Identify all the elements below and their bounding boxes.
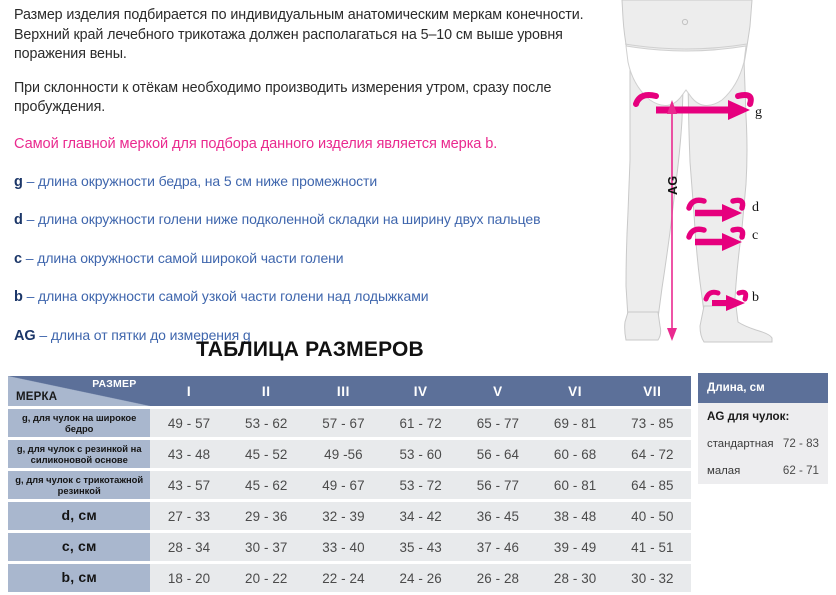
corner-measure-label: МЕРКА xyxy=(16,391,57,403)
measurement-definitions: g – длина окружности бедра, на 5 см ниже… xyxy=(14,173,610,345)
row-label: b, см xyxy=(8,564,150,592)
definition-d: d – длина окружности голени ниже подколе… xyxy=(14,211,610,229)
cell: 28 - 30 xyxy=(537,564,614,592)
cell: 53 - 62 xyxy=(228,409,305,437)
illustration-label-ag: AG xyxy=(666,175,680,195)
row-label: c, см xyxy=(8,533,150,561)
table-corner-cell: РАЗМЕР МЕРКА xyxy=(8,376,150,406)
cell: 61 - 72 xyxy=(382,409,459,437)
column-header-4: IV xyxy=(382,376,459,406)
cell: 49 -56 xyxy=(305,440,382,468)
size-chart-page: Размер изделия подбирается по индивидуал… xyxy=(0,0,836,571)
cell: 35 - 43 xyxy=(382,533,459,561)
cell: 43 - 48 xyxy=(150,440,227,468)
cell: 60 - 81 xyxy=(537,471,614,499)
cell: 37 - 46 xyxy=(459,533,536,561)
cell: 41 - 51 xyxy=(614,533,691,561)
cell: 20 - 22 xyxy=(228,564,305,592)
row-label: d, см xyxy=(8,502,150,530)
cell: 27 - 33 xyxy=(150,502,227,530)
cell: 73 - 85 xyxy=(614,409,691,437)
definition-text: длина окружности бедра, на 5 см ниже про… xyxy=(38,173,377,189)
column-header-5: V xyxy=(459,376,536,406)
cell: 49 - 57 xyxy=(150,409,227,437)
cell: 69 - 81 xyxy=(537,409,614,437)
definition-b: b – длина окружности самой узкой части г… xyxy=(14,288,610,306)
definition-text: длина окружности самой широкой части гол… xyxy=(37,250,343,266)
cell: 33 - 40 xyxy=(305,533,382,561)
definition-key: b xyxy=(14,289,23,305)
length-row-name: малая xyxy=(707,465,783,477)
cell: 30 - 37 xyxy=(228,533,305,561)
highlight-note: Самой главной меркой для подбора данного… xyxy=(14,134,610,154)
length-panel-row: стандартная 72 - 83 xyxy=(698,430,828,457)
cell: 64 - 72 xyxy=(614,440,691,468)
cell: 65 - 77 xyxy=(459,409,536,437)
illustration-label-b: b xyxy=(752,290,759,306)
column-header-1: I xyxy=(150,376,227,406)
column-header-3: III xyxy=(305,376,382,406)
cell: 22 - 24 xyxy=(305,564,382,592)
cell: 18 - 20 xyxy=(150,564,227,592)
table-title: ТАБЛИЦА РАЗМЕРОВ xyxy=(0,338,620,362)
definition-c: c – длина окружности самой широкой части… xyxy=(14,250,610,268)
definition-text: длина окружности самой узкой части голен… xyxy=(38,288,428,304)
cell: 30 - 32 xyxy=(614,564,691,592)
size-table: РАЗМЕР МЕРКА I II III IV V VI VII g, для… xyxy=(8,373,691,595)
illustration-label-g: g xyxy=(755,105,762,121)
cell: 36 - 45 xyxy=(459,502,536,530)
cell: 56 - 77 xyxy=(459,471,536,499)
cell: 38 - 48 xyxy=(537,502,614,530)
cell: 24 - 26 xyxy=(382,564,459,592)
cell: 60 - 68 xyxy=(537,440,614,468)
table-header-row: РАЗМЕР МЕРКА I II III IV V VI VII xyxy=(8,376,691,406)
cell: 56 - 64 xyxy=(459,440,536,468)
table-row: g, для чулок с резинкой на силиконовой о… xyxy=(8,440,691,468)
cell: 57 - 67 xyxy=(305,409,382,437)
length-panel-title: AG для чулок: xyxy=(707,410,819,423)
length-panel-header: Длина, см xyxy=(698,373,828,403)
length-panel-title-row: AG для чулок: xyxy=(698,403,828,430)
cell: 53 - 60 xyxy=(382,440,459,468)
illustration-label-c: c xyxy=(752,228,758,244)
size-table-wrapper: РАЗМЕР МЕРКА I II III IV V VI VII g, для… xyxy=(8,373,691,595)
cell: 26 - 28 xyxy=(459,564,536,592)
legs-figure-svg xyxy=(600,0,836,345)
table-row: d, см 27 - 33 29 - 36 32 - 39 34 - 42 36… xyxy=(8,502,691,530)
cell: 49 - 67 xyxy=(305,471,382,499)
row-label: g, для чулок с резинкой на силиконовой о… xyxy=(8,440,150,468)
intro-paragraph-1: Размер изделия подбирается по индивидуал… xyxy=(14,6,610,65)
table-row: c, см 28 - 34 30 - 37 33 - 40 35 - 43 37… xyxy=(8,533,691,561)
body-silhouette xyxy=(622,0,772,342)
length-panel: Длина, см AG для чулок: стандартная 72 -… xyxy=(698,373,828,484)
column-header-6: VI xyxy=(537,376,614,406)
cell: 32 - 39 xyxy=(305,502,382,530)
cell: 43 - 57 xyxy=(150,471,227,499)
table-row: b, см 18 - 20 20 - 22 22 - 24 24 - 26 26… xyxy=(8,564,691,592)
anatomy-illustration: g d c b xyxy=(600,0,836,345)
cell: 53 - 72 xyxy=(382,471,459,499)
definition-dash: – xyxy=(27,173,35,189)
definition-key: c xyxy=(14,251,22,267)
definition-key: d xyxy=(14,212,23,228)
cell: 28 - 34 xyxy=(150,533,227,561)
length-row-name: стандартная xyxy=(707,438,783,450)
definition-text: длина окружности голени ниже подколенной… xyxy=(38,211,540,227)
length-row-value: 62 - 71 xyxy=(783,464,819,477)
cell: 40 - 50 xyxy=(614,502,691,530)
column-header-2: II xyxy=(228,376,305,406)
cell: 34 - 42 xyxy=(382,502,459,530)
definition-g: g – длина окружности бедра, на 5 см ниже… xyxy=(14,173,610,191)
length-panel-row: малая 62 - 71 xyxy=(698,457,828,484)
row-label: g, для чулок на широкое бедро xyxy=(8,409,150,437)
intro-paragraph-2: При склонности к отёкам необходимо произ… xyxy=(14,79,610,118)
cell: 64 - 85 xyxy=(614,471,691,499)
length-row-value: 72 - 83 xyxy=(783,437,819,450)
cell: 45 - 62 xyxy=(228,471,305,499)
cell: 29 - 36 xyxy=(228,502,305,530)
illustration-label-d: d xyxy=(752,200,759,216)
definition-dash: – xyxy=(27,288,35,304)
definition-dash: – xyxy=(26,250,34,266)
column-header-7: VII xyxy=(614,376,691,406)
row-label: g, для чулок с трикотажной резинкой xyxy=(8,471,150,499)
cell: 45 - 52 xyxy=(228,440,305,468)
definition-dash: – xyxy=(27,211,35,227)
length-panel-body: AG для чулок: стандартная 72 - 83 малая … xyxy=(698,403,828,484)
definition-key: g xyxy=(14,174,23,190)
table-row: g, для чулок на широкое бедро 49 - 57 53… xyxy=(8,409,691,437)
instructions-column: Размер изделия подбирается по индивидуал… xyxy=(14,6,610,365)
table-row: g, для чулок с трикотажной резинкой 43 -… xyxy=(8,471,691,499)
corner-size-label: РАЗМЕР xyxy=(92,378,136,390)
cell: 39 - 49 xyxy=(537,533,614,561)
